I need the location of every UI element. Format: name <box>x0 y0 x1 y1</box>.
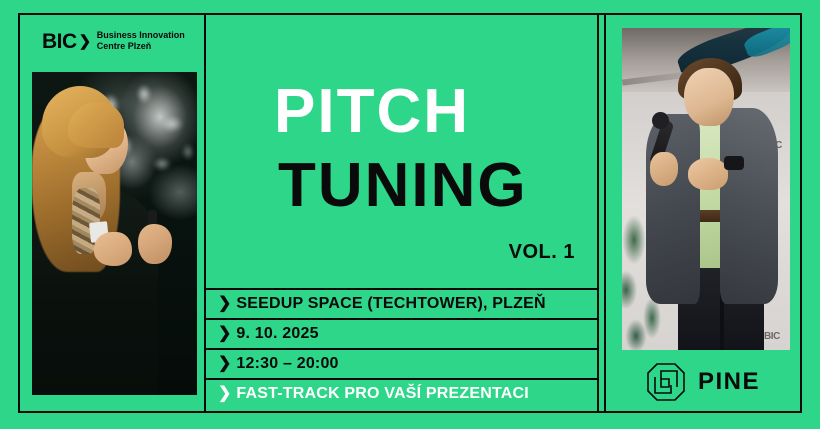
pine-wordmark: PINE <box>698 368 760 396</box>
bic-logo: BIC❯ Business Innovation Centre Plzeň <box>42 30 185 53</box>
right-photo-wristwatch <box>724 156 744 170</box>
right-photo-face <box>684 68 734 126</box>
left-photo-hand-far <box>138 224 172 264</box>
photo-speaker-left <box>32 72 197 395</box>
detail-venue-text: SEEDUP SPACE (TECHTOWER), PLZEŇ <box>236 295 545 313</box>
detail-time-text: 12:30 – 20:00 <box>236 355 338 373</box>
headline-block: PITCH TUNING VOL. 1 <box>206 13 597 288</box>
detail-row-venue: ❯ SEEDUP SPACE (TECHTOWER), PLZEŇ <box>206 288 597 318</box>
bic-subtitle: Business Innovation Centre Plzeň <box>97 30 185 53</box>
title-line-2: TUNING <box>278 155 528 217</box>
bic-wordmark-text: BIC <box>42 31 77 52</box>
title-line-1: PITCH <box>274 81 470 143</box>
right-photo-backdrop-bic-lower: BIC <box>764 331 780 342</box>
detail-row-date: ❯ 9. 10. 2025 <box>206 318 597 348</box>
bic-wordmark: BIC❯ <box>42 31 91 52</box>
chevron-right-icon: ❯ <box>218 296 231 312</box>
right-photo-cardigan-right <box>720 108 778 304</box>
left-photo-hand-near <box>94 232 132 266</box>
title-volume: VOL. 1 <box>509 241 575 264</box>
divider-right-outer <box>604 13 606 413</box>
right-photo-cardigan-left <box>646 114 700 304</box>
event-poster: BIC❯ Business Innovation Centre Plzeň BI… <box>0 0 820 429</box>
chevron-right-icon: ❯ <box>218 326 231 342</box>
interlocking-square-icon <box>646 362 686 402</box>
event-details-list: ❯ SEEDUP SPACE (TECHTOWER), PLZEŇ ❯ 9. 1… <box>206 288 597 408</box>
pine-logo: PINE <box>646 362 760 402</box>
right-photo-hand-holding-mic <box>650 152 678 186</box>
right-photo-hand-gesture <box>688 158 728 190</box>
detail-row-fasttrack: ❯ FAST-TRACK PRO VAŠÍ PREZENTACI <box>206 378 597 408</box>
detail-fasttrack-text: FAST-TRACK PRO VAŠÍ PREZENTACI <box>236 385 529 403</box>
photo-speaker-right: BIC BIC <box>622 28 790 350</box>
detail-row-time: ❯ 12:30 – 20:00 <box>206 348 597 378</box>
divider-right-inner <box>597 13 599 413</box>
bic-chevron-icon: ❯ <box>79 34 91 49</box>
chevron-right-icon: ❯ <box>218 386 231 402</box>
chevron-right-icon: ❯ <box>218 356 231 372</box>
detail-date-text: 9. 10. 2025 <box>236 325 318 343</box>
